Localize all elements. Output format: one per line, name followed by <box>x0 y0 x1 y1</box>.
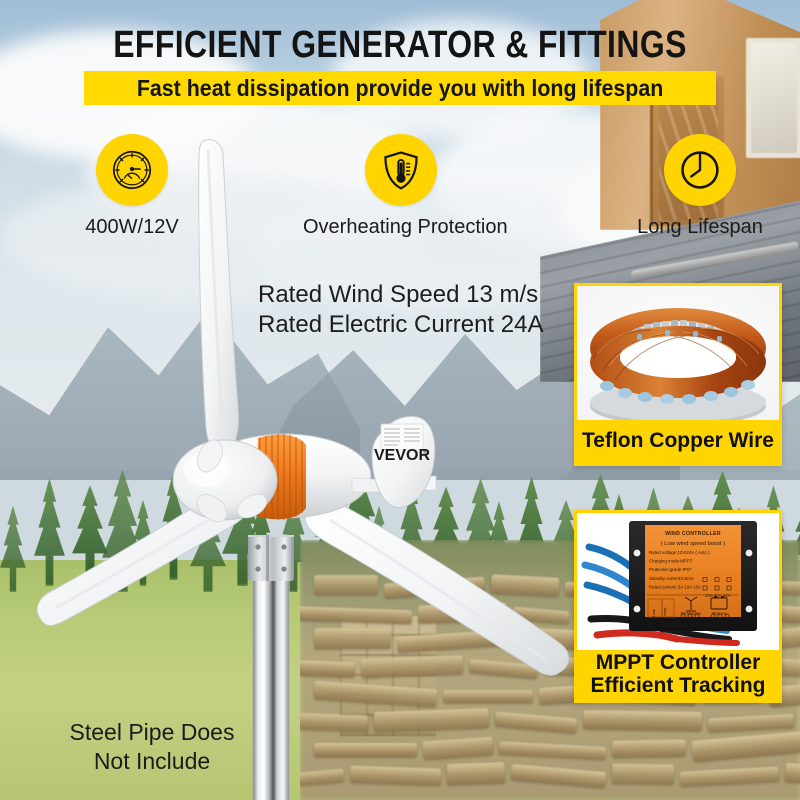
card-caption-line1: Teflon Copper Wire <box>582 430 774 453</box>
disclaimer-line2: Not Include <box>36 747 268 776</box>
stopwatch-icon <box>678 148 722 192</box>
firewood-log <box>350 765 442 785</box>
inset-card-copper-wire: Teflon Copper Wire <box>574 283 782 466</box>
badge-label: Overheating Protection <box>303 216 499 239</box>
firewood-log <box>314 575 378 595</box>
feature-badge-overheating: Overheating Protection <box>303 134 499 239</box>
controller-title-text: WIND CONTROLLER <box>665 531 721 537</box>
subtitle-banner: Fast heat dissipation provide you with l… <box>84 71 716 105</box>
badge-label: 400W/12V <box>36 216 228 239</box>
feature-badge-power: 400W/12V <box>36 134 228 239</box>
product-infographic: VEVOR ® EFFICIENT GENERATOR & FITTINGS F… <box>0 0 800 800</box>
firewood-log <box>361 655 464 678</box>
mppt-controller-photo: WIND CONTROLLER ( Low wind speed boost )… <box>577 513 779 656</box>
card-caption: Teflon Copper Wire <box>577 420 779 463</box>
firewood-log <box>418 602 508 623</box>
firewood-log <box>583 710 702 731</box>
firewood-log <box>491 574 560 597</box>
pine-tree <box>22 478 77 586</box>
feature-badge-lifespan: Long Lifespan <box>604 134 796 239</box>
firewood-log <box>612 763 674 784</box>
subtitle-text: Fast heat dissipation provide you with l… <box>137 75 663 102</box>
pine-tree <box>0 506 36 592</box>
inset-card-mppt-controller: WIND CONTROLLER ( Low wind speed boost )… <box>574 510 782 703</box>
firewood-log <box>443 690 533 703</box>
firewood-log <box>374 708 490 732</box>
controller-spec-line: Standby current:5.6mA <box>649 576 694 581</box>
controller-spec-line: Rated voltage:12V/24V ( Auto ) <box>649 550 710 555</box>
card-caption-line1: MPPT Controller <box>596 652 761 675</box>
controller-spec-line: Rated current: 5A 10A 15A <box>649 584 701 589</box>
page-title: EFFICIENT GENERATOR & FITTINGS <box>64 24 736 67</box>
disclaimer-line1: Steel Pipe Does <box>36 718 268 747</box>
controller-spec-line: Charging mode:MPPT <box>649 559 693 564</box>
badge-disc <box>365 134 437 206</box>
shield-thermometer-icon <box>379 148 423 192</box>
controller-spec-line: 20A 30A 40A <box>705 593 730 598</box>
firewood-log <box>447 762 506 785</box>
firewood-log <box>300 660 355 677</box>
copper-stator-photo <box>577 286 779 426</box>
firewood-log <box>300 713 368 732</box>
controller-load-label: Load <box>652 609 656 617</box>
controller-spec-line: Protection grade:IP67 <box>649 567 692 572</box>
firewood-log <box>314 743 417 757</box>
feature-badge-row: 400W/12V Overheating Protection <box>0 134 800 244</box>
badge-disc <box>664 134 736 206</box>
steel-pipe-disclaimer: Steel Pipe Does Not Include <box>36 718 268 776</box>
controller-illustration: WIND CONTROLLER ( Low wind speed boost )… <box>577 513 779 656</box>
spec-line-current: Rated Electric Current 24A <box>258 310 598 340</box>
spec-line-wind-speed: Rated Wind Speed 13 m/s <box>258 280 598 310</box>
badge-disc <box>96 134 168 206</box>
firewood-log <box>612 739 686 757</box>
stator-illustration <box>577 286 779 426</box>
gauge-icon <box>109 147 155 193</box>
controller-subtitle-text: ( Low wind speed boost ) <box>661 541 726 547</box>
firewood-log <box>314 628 391 649</box>
badge-label: Long Lifespan <box>604 216 796 239</box>
card-caption: MPPT Controller Efficient Tracking <box>577 650 779 700</box>
card-caption-line2: Efficient Tracking <box>590 675 765 698</box>
spec-text-block: Rated Wind Speed 13 m/s Rated Electric C… <box>258 280 598 340</box>
